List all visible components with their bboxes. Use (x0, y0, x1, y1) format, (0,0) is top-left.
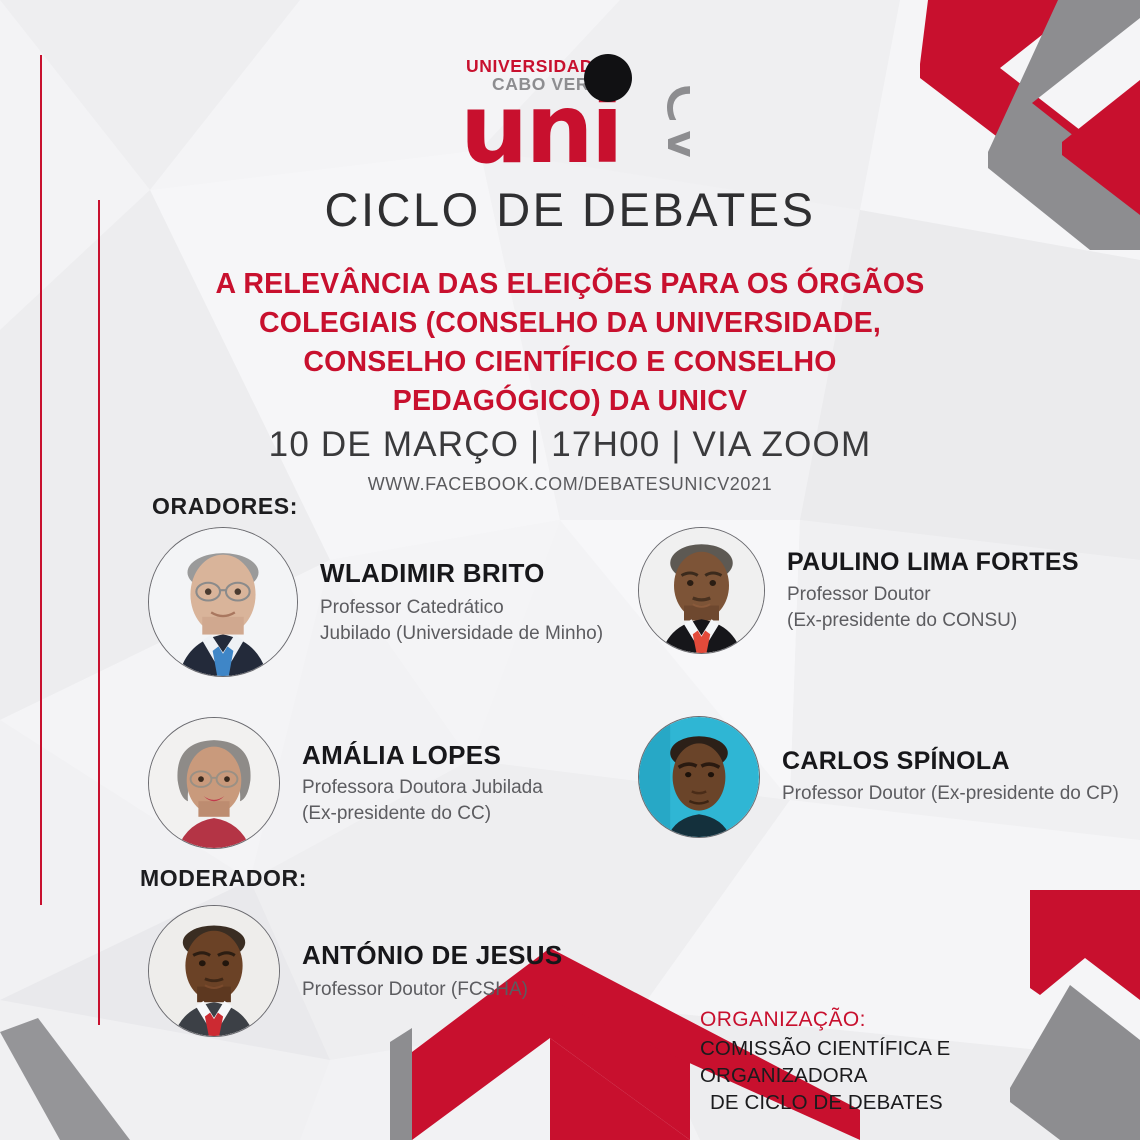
moderator-role-line: Professor Doutor (FCSHA) (302, 977, 563, 1003)
logo-wordmark-cv: cv (649, 82, 690, 165)
moderator-text: ANTÓNIO DE JESUS Professor Doutor (FCSHA… (302, 940, 563, 1003)
speaker-name: PAULINO LIMA FORTES (787, 548, 1079, 577)
topic-line: A RELEVÂNCIA DAS ELEIÇÕES PARA OS ÓRGÃOS (170, 265, 970, 304)
speaker-role-line: Jubilado (Universidade de Minho) (320, 621, 603, 647)
moderator-name: ANTÓNIO DE JESUS (302, 940, 563, 971)
speaker-text: WLADIMIR BRITO Professor Catedrático Jub… (320, 558, 603, 647)
moderator-card-antonio-de-jesus: ANTÓNIO DE JESUS Professor Doutor (FCSHA… (148, 905, 563, 1037)
moderator-section-label: MODERADOR: (140, 865, 307, 892)
speaker-card-amalia-lopes: AMÁLIA LOPES Professora Doutora Jubilada… (148, 717, 543, 849)
speaker-name: AMÁLIA LOPES (302, 740, 543, 771)
speaker-text: AMÁLIA LOPES Professora Doutora Jubilada… (302, 740, 543, 827)
speaker-card-carlos-spinola: CARLOS SPÍNOLA Professor Doutor (Ex-pres… (638, 716, 1119, 838)
organization-line: COMISSÃO CIENTÍFICA E ORGANIZADORA (700, 1035, 1100, 1089)
speaker-text: CARLOS SPÍNOLA Professor Doutor (Ex-pres… (782, 747, 1119, 807)
organization-line: DE CICLO DE DEBATES (700, 1089, 1100, 1116)
organization-block: ORGANIZAÇÃO: COMISSÃO CIENTÍFICA E ORGAN… (700, 1008, 1100, 1116)
event-url[interactable]: WWW.FACEBOOK.COM/DEBATESUNICV2021 (0, 474, 1140, 495)
portrait-icon (639, 717, 759, 837)
portrait-icon (639, 528, 764, 653)
speaker-role-line: Professor Doutor (Ex-presidente do CP) (782, 781, 1119, 807)
svg-text:cv: cv (649, 82, 690, 165)
debate-topic: A RELEVÂNCIA DAS ELEIÇÕES PARA OS ÓRGÃOS… (170, 265, 970, 421)
topic-line: COLEGIAIS (CONSELHO DA UNIVERSIDADE, (170, 304, 970, 343)
topic-line: PEDAGÓGICO) DA UNICV (170, 382, 970, 421)
avatar (148, 717, 280, 849)
topic-line: CONSELHO CIENTÍFICO E CONSELHO (170, 343, 970, 382)
logo-dot (584, 54, 632, 102)
unicv-logo: UNIVERSIDADE CABO VERDE uni cv (460, 52, 690, 167)
avatar (148, 527, 298, 677)
speaker-role-line: Professor Catedrático (320, 595, 603, 621)
speaker-role-line: (Ex-presidente do CC) (302, 801, 543, 827)
portrait-icon (149, 906, 279, 1036)
avatar (638, 527, 765, 654)
speaker-role-line: Professora Doutora Jubilada (302, 775, 543, 801)
speaker-card-paulino-lima-fortes: PAULINO LIMA FORTES Professor Doutor (Ex… (638, 527, 1079, 654)
event-poster: UNIVERSIDADE CABO VERDE uni cv CICLO DE … (0, 0, 1140, 1140)
speaker-name: WLADIMIR BRITO (320, 558, 603, 589)
speaker-role-line: Professor Doutor (787, 582, 1079, 608)
portrait-icon (149, 718, 279, 848)
portrait-icon (149, 528, 297, 676)
organization-label: ORGANIZAÇÃO: (700, 1008, 1100, 1032)
speaker-text: PAULINO LIMA FORTES Professor Doutor (Ex… (787, 548, 1079, 634)
page-title: CICLO DE DEBATES (0, 182, 1140, 237)
decorative-red-rule-left-inner (98, 200, 100, 1025)
event-datetime: 10 DE MARÇO | 17H00 | VIA ZOOM (0, 425, 1140, 465)
avatar (148, 905, 280, 1037)
speaker-role-line: (Ex-presidente do CONSU) (787, 608, 1079, 634)
speakers-section-label: ORADORES: (152, 493, 298, 520)
speaker-name: CARLOS SPÍNOLA (782, 747, 1119, 776)
avatar (638, 716, 760, 838)
speaker-card-wladimir-brito: WLADIMIR BRITO Professor Catedrático Jub… (148, 527, 603, 677)
